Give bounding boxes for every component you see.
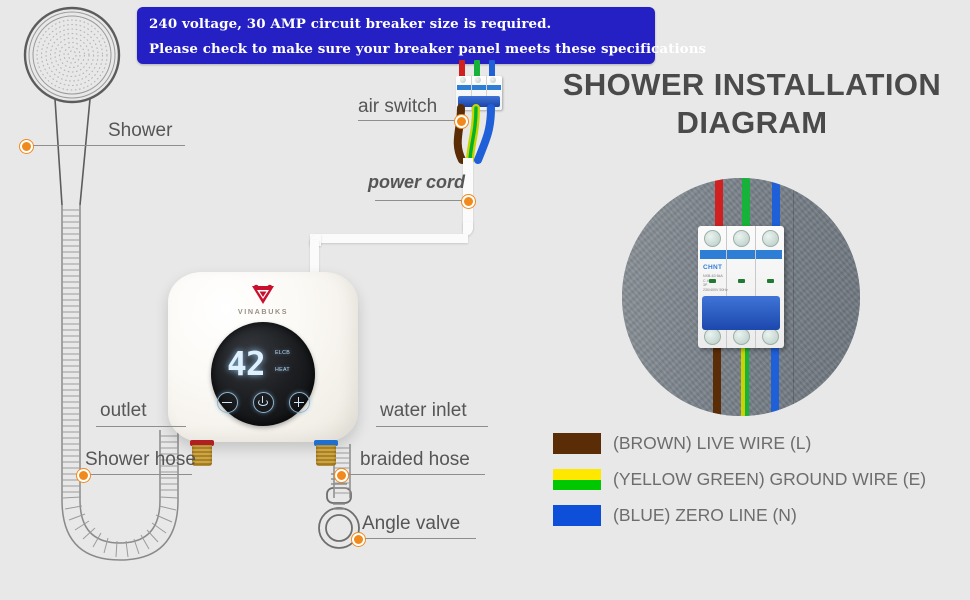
callout-power-cord-leader (375, 200, 467, 201)
chnt-breaker: CHNT NXB-63 6kA C 40 3P 230/400V 50Hz (698, 226, 784, 348)
callout-power-cord-marker (462, 195, 475, 208)
temperature-display[interactable]: 42 ELCB HEAT (211, 322, 315, 426)
callout-shower-hose-leader (82, 474, 192, 475)
callout-braided-hose-label: braided hose (360, 449, 470, 471)
air-switch-output-wires (440, 108, 530, 170)
chnt-terminal-screw (762, 230, 779, 247)
tankless-water-heater: VINABUKS 42 ELCB HEAT (168, 272, 358, 442)
chnt-blue-band (700, 250, 782, 259)
chnt-pole-indicator (767, 279, 774, 283)
legend-label-zero-line: (BLUE) ZERO LINE (N) (613, 505, 797, 526)
callout-angle-valve-leader (358, 538, 476, 539)
legend-label-live-wire: (BROWN) LIVE WIRE (L) (613, 433, 811, 454)
callout-shower-marker (20, 140, 33, 153)
inset-wire-blue-top (772, 178, 780, 233)
inset-wire-red (715, 178, 723, 233)
chnt-terminal-screw (733, 328, 750, 345)
callout-angle-valve-marker (352, 533, 365, 546)
callout-water-inlet-leader (376, 426, 488, 427)
legend-row: (BROWN) LIVE WIRE (L) (553, 428, 926, 459)
inset-wire-brown (713, 346, 721, 416)
callout-water-inlet-label: water inlet (380, 400, 467, 422)
callout-shower-hose-marker (77, 469, 90, 482)
callout-braided-hose-leader (340, 474, 485, 475)
breaker-blue-band (457, 85, 501, 90)
inset-wire-yellow-green (741, 346, 749, 416)
chnt-spec-label: NXB-63 6kA C 40 3P 230/400V 50Hz (703, 274, 733, 292)
legend-swatch-yellow-green (553, 469, 601, 490)
callout-shower-hose-label: Shower hose (85, 449, 196, 471)
wire-color-legend: (BROWN) LIVE WIRE (L) (YELLOW GREEN) GRO… (553, 428, 926, 536)
legend-swatch-blue (553, 505, 601, 526)
chnt-terminal-screw (733, 230, 750, 247)
callout-outlet-leader (96, 426, 186, 427)
minus-button[interactable] (217, 392, 238, 413)
breaker-terminal-screw (490, 77, 496, 83)
heat-indicator: HEAT (275, 367, 290, 373)
banner-line-1: 240 voltage, 30 AMP circuit breaker size… (149, 12, 645, 37)
touch-button-row (211, 392, 315, 413)
brand-logo-icon (250, 284, 276, 306)
chnt-terminal-screw (704, 328, 721, 345)
callout-power-cord-label: power cord (368, 172, 465, 193)
chnt-brand-label: CHNT (703, 264, 722, 271)
inlet-port (314, 440, 338, 466)
callout-air-switch-leader (358, 120, 462, 121)
title-line-2: DIAGRAM (540, 104, 964, 142)
page-title: SHOWER INSTALLATION DIAGRAM (540, 66, 964, 142)
chnt-terminal-screw (704, 230, 721, 247)
callout-shower-leader (25, 145, 185, 146)
title-line-1: SHOWER INSTALLATION (540, 66, 964, 104)
chnt-pole-indicator (709, 279, 716, 283)
legend-row: (YELLOW GREEN) GROUND WIRE (E) (553, 464, 926, 495)
inlet-brass-fitting (316, 445, 336, 466)
breaker-terminal-screw (475, 77, 481, 83)
power-cord-horizontal (310, 234, 468, 243)
banner-line-2: Please check to make sure your breaker p… (149, 37, 645, 62)
legend-row: (BLUE) ZERO LINE (N) (553, 500, 926, 531)
chnt-toggle-lever (702, 296, 780, 330)
inset-wire-blue-bottom (771, 346, 779, 416)
chnt-pole-indicator (738, 279, 745, 283)
temperature-value: 42 (227, 344, 265, 383)
callout-air-switch-marker (455, 115, 468, 128)
callout-outlet-label: outlet (100, 400, 146, 422)
legend-label-ground-wire: (YELLOW GREEN) GROUND WIRE (E) (613, 469, 926, 490)
elcb-indicator: ELCB (275, 350, 290, 356)
callout-shower-label: Shower (108, 120, 172, 142)
plus-button[interactable] (289, 392, 310, 413)
breaker-terminal-screw (460, 77, 466, 83)
callout-air-switch-label: air switch (358, 96, 437, 118)
warning-banner: 240 voltage, 30 AMP circuit breaker size… (137, 7, 655, 64)
callout-braided-hose-marker (335, 469, 348, 482)
breaker-photo-inset: CHNT NXB-63 6kA C 40 3P 230/400V 50Hz (622, 178, 860, 416)
chnt-terminal-screw (762, 328, 779, 345)
power-button[interactable] (253, 392, 274, 413)
inset-wire-green (742, 178, 750, 233)
diagram-canvas: 240 voltage, 30 AMP circuit breaker size… (0, 0, 970, 600)
brand-name: VINABUKS (238, 307, 288, 316)
power-cord-vertical-upper (463, 158, 473, 230)
callout-angle-valve-label: Angle valve (362, 513, 460, 535)
legend-swatch-brown (553, 433, 601, 454)
